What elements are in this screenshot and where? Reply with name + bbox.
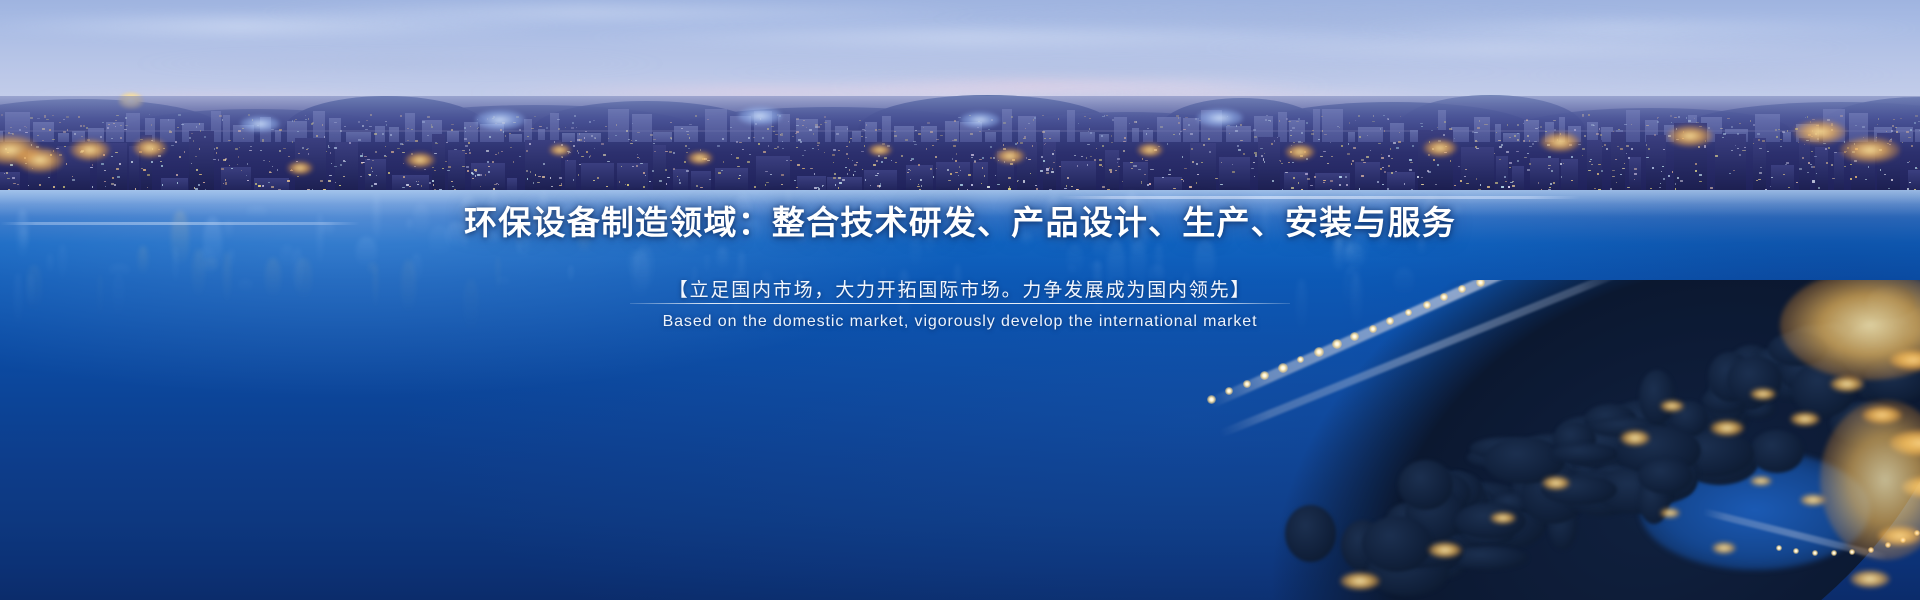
window-light [812,148,814,149]
window-light [372,160,374,162]
window-light [115,152,118,153]
window-light [1123,150,1125,152]
window-light [86,127,88,129]
window-light [865,179,867,181]
window-light [1190,133,1193,135]
window-light [954,139,957,141]
window-light [1077,165,1078,167]
window-light [422,121,425,123]
window-light [513,161,514,162]
window-light [1320,156,1323,157]
window-light [498,152,499,154]
reflection-streak [1058,231,1067,252]
reflection-streak [578,228,590,253]
window-light [1831,164,1832,166]
window-light [1914,122,1916,124]
window-light [427,116,430,117]
window-light [933,176,935,177]
window-light [1652,167,1655,169]
window-light [1279,160,1282,161]
window-light [1134,165,1137,167]
window-light [571,127,574,129]
distant-building [985,132,996,142]
window-light [1058,118,1059,120]
window-light [1825,148,1827,150]
window-light [1807,116,1808,118]
window-light [849,141,850,143]
window-light [131,161,133,163]
window-light [920,179,922,181]
tree-cluster [1398,460,1453,510]
window-light [1306,122,1308,124]
distant-building [562,133,575,142]
reflection-streak [954,264,961,310]
cove-rim-lamp [1812,550,1818,556]
window-light [891,160,892,162]
window-light [111,183,114,185]
window-light [1185,117,1188,118]
window-light [723,161,725,163]
window-light [1494,153,1495,154]
window-light [1090,132,1092,134]
window-light [792,136,793,137]
window-light [1911,145,1913,147]
window-light [643,172,645,174]
window-light [894,135,897,137]
window-light [1646,125,1649,126]
city-glow-warm-2 [70,139,110,161]
window-light [297,176,300,177]
window-light [1818,187,1821,189]
window-light [1680,180,1683,182]
window-light [797,164,800,166]
window-light [616,124,618,126]
window-light [119,163,121,164]
window-light [802,155,804,156]
window-light [113,123,115,124]
window-light [495,154,498,155]
reflection-streak [1067,265,1076,275]
reflection-streak [858,275,862,296]
park-light-0 [1620,430,1650,446]
street-lamp [1332,339,1342,349]
window-light [402,144,404,145]
window-light [1762,140,1765,142]
window-light [1907,162,1909,164]
window-light [546,127,548,129]
waterfront-peninsula [1190,280,1920,600]
window-light [1182,156,1183,158]
window-light [1220,184,1223,185]
window-light [1896,131,1898,133]
street-lamp [1207,395,1216,404]
window-light [852,160,853,161]
window-light [570,141,572,142]
window-light [1551,170,1554,171]
window-light [619,181,620,183]
window-light [1582,155,1583,156]
window-light [866,124,867,126]
window-light [1409,159,1411,161]
window-light [833,177,836,179]
window-light [1291,187,1294,189]
window-light [640,163,643,165]
window-light [913,141,916,142]
reflection-streak [192,249,205,300]
window-light [578,152,579,154]
window-light [584,141,586,142]
window-light [397,148,400,149]
window-light [1209,151,1211,153]
window-light [1312,130,1314,131]
window-light [688,148,690,150]
window-light [687,134,689,135]
window-light [1454,185,1456,186]
street-lamp [1458,285,1466,293]
distant-building [1313,109,1320,142]
window-light [1130,162,1133,163]
window-light [846,146,848,147]
window-light [685,145,688,147]
window-light [1512,185,1515,186]
window-light [1474,132,1477,134]
window-light [80,125,82,127]
window-light [501,151,503,152]
reflection-streak [1346,266,1361,277]
window-light [718,172,721,174]
window-light [1184,168,1187,170]
window-light [550,177,551,179]
city-glow-warm-15 [1794,120,1846,144]
window-light [1052,168,1054,170]
window-light [199,174,202,175]
window-light [78,116,81,118]
window-light [1737,133,1739,135]
window-light [1180,131,1182,132]
window-light [364,156,367,157]
window-light [665,169,667,171]
window-light [429,182,431,184]
window-light [328,147,330,149]
window-light [1888,188,1890,189]
window-light [1331,156,1333,157]
window-light [160,161,163,162]
reflection-streak [112,274,125,321]
window-light [589,156,590,157]
window-light [1347,153,1350,154]
window-light [794,180,796,181]
window-light [914,144,917,145]
window-light [1196,163,1198,165]
park-light-4 [1790,412,1820,426]
window-light [643,186,645,188]
park-light-14 [1660,508,1680,518]
window-light [125,117,127,119]
city-glow-warm-16 [1840,137,1900,163]
window-light [879,187,880,188]
window-light [472,178,474,179]
window-light [1517,160,1519,162]
window-light [1028,123,1029,124]
window-light [362,125,364,127]
distant-building [632,114,652,142]
window-light [1146,133,1148,135]
window-light [1041,156,1043,157]
city-glow-cool-0 [475,110,525,130]
window-light [1169,169,1171,171]
window-light [334,166,335,167]
reflection-streak [1107,240,1125,296]
window-light [1479,120,1480,122]
distant-building [275,130,281,142]
window-light [391,151,393,153]
window-light [559,177,562,179]
window-light [388,172,390,174]
window-light [1915,115,1918,117]
window-light [1443,134,1446,136]
distant-building [1474,117,1490,142]
window-light [1015,143,1017,145]
window-light [1111,142,1113,143]
window-light [824,116,826,118]
window-light [216,147,218,149]
city-glow-warm-4 [287,161,313,175]
window-light [802,125,804,126]
window-light [1382,167,1384,169]
window-light [487,161,489,163]
window-light [1834,152,1837,153]
window-light [954,120,956,122]
window-light [162,184,163,186]
window-light [907,172,909,173]
city-glow-warm-6 [549,144,571,156]
window-light [1020,142,1023,143]
window-light [1101,135,1103,137]
window-light [836,133,839,134]
window-light [1499,146,1502,148]
window-light [465,153,468,154]
window-light [948,180,951,181]
window-light [1760,167,1762,168]
window-light [1532,143,1534,145]
window-light [466,166,469,168]
window-light [237,164,238,165]
window-light [1626,153,1627,155]
park-light-12 [1750,476,1772,486]
window-light [1298,118,1300,120]
street-lamp [1314,347,1324,357]
window-light [1191,148,1193,150]
window-light [1292,127,1295,129]
cloud-1 [240,6,1000,19]
window-light [1192,161,1194,163]
window-light [316,135,318,137]
window-light [312,122,315,124]
window-light [1909,161,1910,162]
window-light [1110,171,1111,172]
window-light [1918,121,1920,123]
cloud-6 [680,66,1560,78]
window-light [120,137,123,139]
window-light [817,145,819,147]
window-light [1433,159,1434,161]
cloud-7 [1340,22,1920,35]
window-light [579,139,582,141]
window-light [653,139,656,140]
window-light [529,143,531,145]
window-light [1412,145,1415,147]
distant-building [1067,110,1075,142]
window-light [1517,139,1519,141]
reflection-streak [1148,265,1165,285]
reflection-streak [1130,240,1146,288]
window-light [279,150,282,152]
reflection-streak [203,258,218,274]
window-light [1131,168,1134,169]
window-light [1612,176,1615,177]
reflection-streak [265,258,281,299]
window-light [116,168,119,170]
window-light [30,117,33,119]
distant-building [1157,117,1181,142]
city-glow-cool-3 [1197,109,1243,127]
window-light [1620,148,1623,150]
window-light [739,175,741,176]
window-light [777,146,779,148]
window-light [468,142,470,143]
window-light [1811,151,1813,152]
window-light [1624,124,1627,126]
window-light [376,175,378,176]
window-light [1694,118,1695,120]
reflection-streak [1184,272,1189,317]
window-light [876,160,878,162]
window-light [1626,145,1629,147]
reflection-streak [760,271,773,308]
window-light [1427,170,1429,172]
window-light [995,175,996,176]
window-light [1111,135,1112,137]
distant-building [58,133,69,142]
window-light [798,139,801,141]
window-light [191,163,192,164]
window-light [686,152,688,154]
window-light [509,133,511,134]
window-light [1783,174,1785,175]
window-light [526,170,528,172]
window-light [579,164,581,165]
window-light [730,127,731,128]
reflection-streak [635,245,654,294]
distant-building [1626,110,1640,142]
window-light [1710,187,1713,189]
window-light [742,149,744,150]
reflection-streak [738,251,745,289]
window-light [1787,130,1788,132]
window-light [1498,140,1501,141]
window-light [770,174,772,175]
window-light [462,166,465,167]
window-light [1524,157,1527,158]
window-light [1150,169,1153,170]
window-light [1672,171,1673,173]
park-light-9 [1490,512,1516,524]
window-light [632,123,633,124]
window-light [1729,173,1731,174]
window-light [601,143,604,145]
window-light [917,186,920,187]
window-light [42,128,45,130]
window-light [63,186,65,188]
street-lamp [1278,363,1288,373]
reflection-streak [58,244,67,283]
window-light [1891,130,1893,131]
window-light [390,134,392,136]
window-light [1074,155,1076,157]
window-light [1495,182,1498,184]
window-light [1064,188,1067,189]
reflection-streak [496,257,500,296]
park-light-1 [1660,400,1684,412]
window-light [431,126,433,127]
window-light [940,135,942,136]
window-light [987,186,990,187]
window-light [952,158,953,160]
reflection-streak [138,246,148,276]
tree-cluster [1638,458,1693,494]
window-light [918,164,919,166]
window-light [842,179,845,181]
window-light [213,159,215,160]
reflection-streak [705,255,709,276]
window-light [971,184,973,186]
window-light [1106,115,1108,116]
city-glow-cool-2 [960,112,1000,128]
window-light [1393,142,1396,144]
window-light [171,145,174,146]
distant-building [1132,128,1139,142]
window-light [530,171,531,173]
window-light [1178,122,1180,124]
window-light [100,136,102,138]
window-light [673,152,675,154]
window-light [1484,124,1487,125]
window-light [873,164,875,165]
window-light [736,157,739,159]
window-light [947,169,949,170]
window-light [747,161,750,163]
reflection-streak [881,267,885,291]
window-light [374,183,377,185]
window-light [1035,185,1037,186]
reflection-streak [1092,220,1109,260]
window-light [1391,158,1393,159]
window-light [1118,166,1121,167]
window-light [1051,171,1054,173]
window-light [749,154,752,155]
window-light [1601,170,1603,171]
park-light-10 [1428,542,1462,558]
window-light [362,153,364,154]
window-light [901,155,903,157]
window-light [815,124,818,126]
window-light [1910,129,1912,131]
distant-building [509,134,522,142]
window-light [1009,186,1010,188]
window-light [1288,162,1291,163]
window-light [1292,162,1295,163]
window-light [1828,147,1830,149]
